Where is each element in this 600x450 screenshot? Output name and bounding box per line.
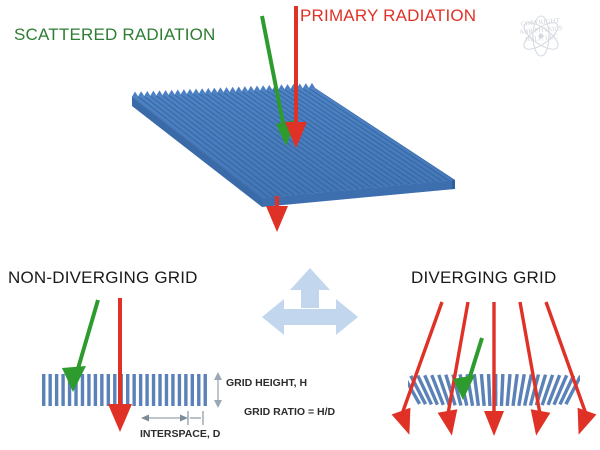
non-diverging-grid-bars — [42, 374, 207, 406]
non-diverging-scattered-arrow — [62, 300, 98, 392]
non-diverging-primary-arrow — [108, 298, 132, 432]
grid-height-dimension-arrow — [214, 372, 222, 408]
watermark: COPYRIGHT ABR PHYSICS HELP, LLC — [505, 5, 577, 67]
grid-diagram: SCATTERED RADIATION PRIMARY RADIATION NO… — [0, 0, 600, 450]
interspace-dimension-arrow — [141, 411, 203, 425]
grid-3d-slab — [132, 83, 455, 207]
primary-radiation-arrow-top — [285, 6, 307, 148]
multi-direction-arrow-icon — [262, 268, 358, 335]
slab-right-face — [452, 180, 455, 189]
diverging-primary-arrows — [392, 302, 597, 438]
diagram-artwork — [0, 0, 600, 450]
diverging-grid-bars — [402, 374, 582, 406]
